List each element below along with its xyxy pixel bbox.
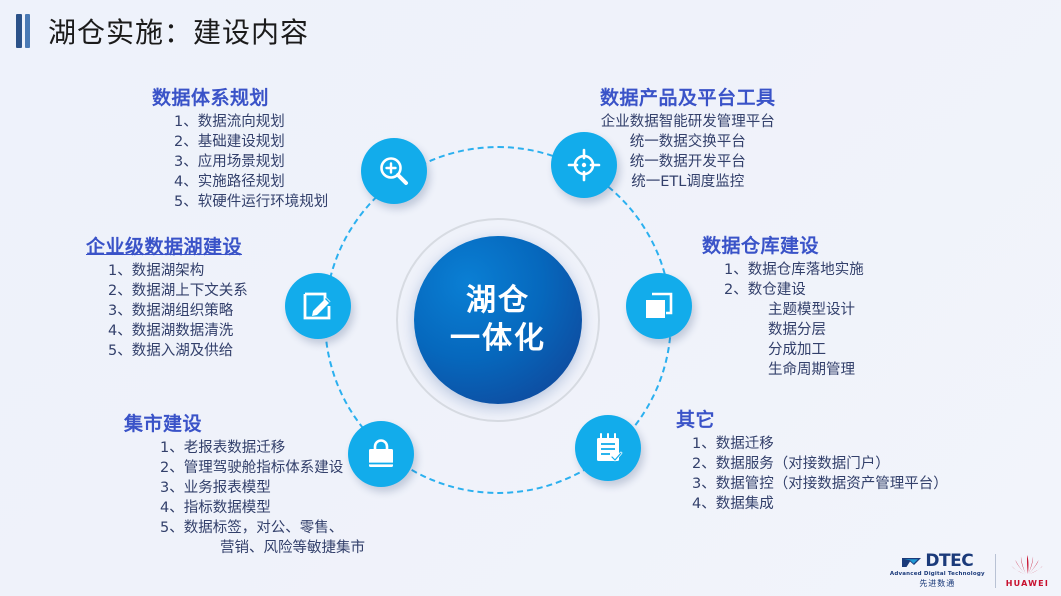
list-item: 3、数据湖组织策略: [108, 301, 248, 321]
list-subitem: 主题模型设计: [724, 300, 864, 320]
list-item: 1、数据湖架构: [108, 261, 248, 281]
list-item: 2、数仓建设: [724, 280, 864, 300]
target-crosshair-icon: [567, 148, 601, 182]
huawei-wordmark: HUAWEI: [1006, 579, 1049, 588]
hub-and-spoke-diagram: 湖仓 一体化: [268, 118, 728, 538]
block-list-lake: 1、数据湖架构 2、数据湖上下文关系 3、数据湖组织策略 4、数据湖数据清洗 5…: [86, 261, 248, 361]
footer-logos: DTEC Advanced Digital Technology 先进数通 HU…: [890, 553, 1049, 588]
page-title: 湖仓实施：建设内容: [48, 11, 309, 51]
list-item: 3、数据管控（对接数据资产管理平台）: [692, 474, 948, 494]
block-enterprise-data-lake: 企业级数据湖建设 1、数据湖架构 2、数据湖上下文关系 3、数据湖组织策略 4、…: [86, 232, 248, 361]
title-accent-bars: [16, 14, 30, 48]
node-other[interactable]: [575, 415, 641, 481]
shopping-bag-icon: [364, 437, 398, 471]
copy-duplicate-icon: [642, 289, 676, 323]
list-item: 1、数据迁移: [692, 434, 948, 454]
list-item-continuation: 营销、风险等敏捷集市: [160, 538, 365, 558]
block-heading-products: 数据产品及平台工具: [600, 83, 776, 110]
node-data-products-platform-tools[interactable]: [551, 132, 617, 198]
node-data-system-planning[interactable]: [361, 138, 427, 204]
dtec-tagline: Advanced Digital Technology: [890, 572, 985, 578]
dtec-logo-mark-row: DTEC: [901, 553, 973, 570]
slide-canvas: 湖仓实施：建设内容 数据体系规划 1、数据流向规划 2、基础建设规划 3、应用场…: [0, 0, 1061, 596]
node-data-warehouse[interactable]: [626, 273, 692, 339]
core-label-line2: 一体化: [450, 320, 546, 358]
dtec-wordmark: DTEC: [925, 553, 973, 570]
huawei-logo: HUAWEI: [1006, 553, 1049, 588]
node-data-mart[interactable]: [348, 421, 414, 487]
list-subitem: 数据分层: [724, 320, 864, 340]
dtec-logo: DTEC Advanced Digital Technology 先进数通: [890, 553, 985, 588]
dtec-chinese-name: 先进数通: [919, 580, 955, 588]
title-accent-bar-light: [25, 14, 30, 48]
list-item: 5、数据入湖及供给: [108, 341, 248, 361]
list-item: 1、数据仓库落地实施: [724, 260, 864, 280]
list-item: 2、数据服务（对接数据门户）: [692, 454, 948, 474]
edit-pencil-square-icon: [301, 289, 335, 323]
list-item: 2、数据湖上下文关系: [108, 281, 248, 301]
magnify-plus-icon: [377, 154, 411, 188]
huawei-flower-icon: [1010, 553, 1044, 577]
slide-title-row: 湖仓实施：建设内容: [0, 0, 1061, 62]
logo-divider: [995, 554, 996, 588]
core-label-line1: 湖仓: [466, 282, 530, 320]
title-accent-bar-dark: [16, 14, 22, 48]
node-enterprise-data-lake[interactable]: [285, 273, 351, 339]
list-subitem: 生命周期管理: [724, 360, 864, 380]
notepad-check-icon: [591, 431, 625, 465]
center-core-circle: 湖仓 一体化: [414, 236, 582, 404]
block-heading-lake: 企业级数据湖建设: [86, 232, 248, 259]
list-item: 4、数据湖数据清洗: [108, 321, 248, 341]
block-heading-planning: 数据体系规划: [152, 83, 328, 110]
list-item: 4、数据集成: [692, 494, 948, 514]
list-subitem: 分成加工: [724, 340, 864, 360]
dtec-arrow-icon: [901, 555, 923, 569]
